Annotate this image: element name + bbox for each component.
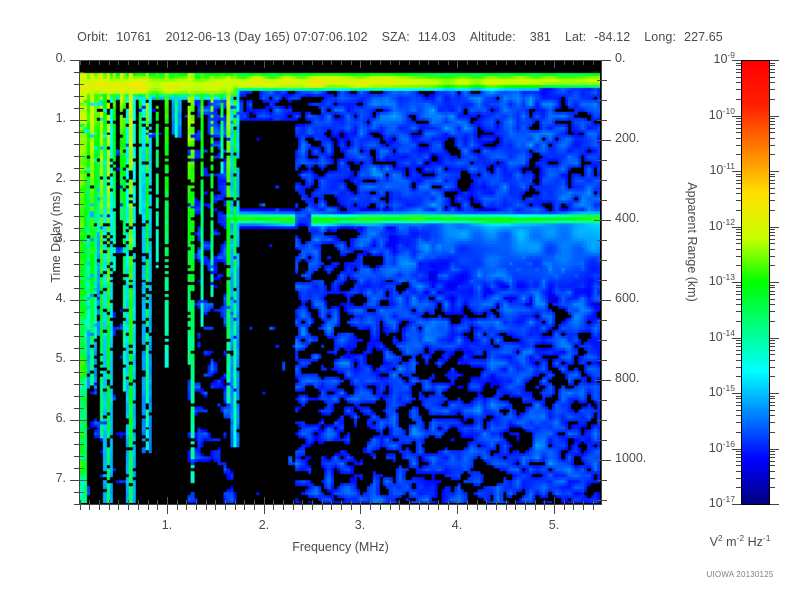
unit-m: m (723, 535, 737, 549)
x-tick-minor (486, 505, 487, 510)
x-tick-minor (583, 505, 584, 510)
y-tick-minor-right (602, 80, 607, 81)
x-tick-inner (593, 500, 594, 504)
colorbar-tick-minor-right (770, 304, 775, 305)
colorbar-tick-minor-right (770, 471, 775, 472)
colorbar-tick-minor-right (770, 176, 775, 177)
x-tick-minor (312, 505, 313, 510)
y-tick-inner (80, 300, 87, 301)
y-tick-inner (80, 360, 87, 361)
colorbar-tick-minor (736, 410, 741, 411)
x-tick-top (80, 61, 81, 65)
colorbar-tick-minor (736, 99, 741, 100)
x-tick-inner (89, 500, 90, 504)
colorbar-tick-minor (736, 415, 741, 416)
x-tick-top (496, 61, 497, 65)
colorbar-tick-minor-right (770, 180, 775, 181)
y-tick-minor (74, 204, 79, 205)
x-tick-inner (573, 500, 574, 504)
x-tick-top (428, 61, 429, 65)
y-tick-minor (74, 192, 79, 193)
y-tick-inner (80, 240, 87, 241)
unit-hz: Hz (744, 535, 763, 549)
y-tick-inner (80, 396, 84, 397)
x-tick-minor (157, 505, 158, 510)
colorbar-tick-minor (736, 299, 741, 300)
colorbar-tick-minor (736, 118, 741, 119)
x-tick-inner (186, 500, 187, 504)
y-tick-minor-right (602, 280, 607, 281)
colorbar-tick-minor-right (770, 487, 775, 488)
header-metadata: Orbit: 10761 2012-06-13 (Day 165) 07:07:… (0, 30, 800, 44)
y-axis-left-line (79, 60, 80, 505)
y-tick-label-right: 400. (615, 211, 639, 225)
x-tick-minor (118, 505, 119, 510)
y-tick-inner (80, 480, 87, 481)
x-tick-inner (177, 500, 178, 504)
colorbar-tick-minor-right (770, 367, 775, 368)
colorbar-tick-minor-right (770, 200, 775, 201)
x-tick-top (515, 61, 516, 65)
y-tick-major-right (602, 60, 611, 61)
x-tick-minor (351, 505, 352, 510)
colorbar-tick-minor-right (770, 154, 775, 155)
colorbar-tick-minor (736, 193, 741, 194)
y-tick-inner (80, 132, 84, 133)
x-tick-label: 1. (153, 518, 181, 532)
colorbar-tick-minor (736, 188, 741, 189)
colorbar-tick-minor (736, 304, 741, 305)
colorbar-tick-minor (736, 256, 741, 257)
colorbar-tick-minor-right (770, 193, 775, 194)
y-tick-label-left: 6. (0, 411, 66, 425)
colorbar-tick-minor-right (770, 239, 775, 240)
colorbar-tick-label: 10-16 (680, 439, 735, 455)
y-tick-inner (80, 312, 84, 313)
y-tick-major (70, 180, 79, 181)
x-tick-top (244, 61, 245, 65)
observation-datetime: 2012-06-13 (Day 165) 07:07:06.102 (166, 30, 368, 44)
x-tick-label: 3. (346, 518, 374, 532)
colorbar-tick-label: 10-14 (680, 328, 735, 344)
x-tick-top (312, 61, 313, 65)
colorbar-tick-minor (736, 451, 741, 452)
x-tick-minor (293, 505, 294, 510)
colorbar-tick-minor-right (770, 89, 775, 90)
x-tick-inner (419, 500, 420, 504)
colorbar-tick-minor (736, 243, 741, 244)
x-tick-inner (293, 500, 294, 504)
y-tick-inner-right (597, 420, 601, 421)
x-tick-top (235, 61, 236, 65)
x-tick-inner (157, 500, 158, 504)
x-tick-minor (244, 505, 245, 510)
x-tick-minor (390, 505, 391, 510)
x-tick-top (564, 61, 565, 65)
x-tick-top (457, 61, 458, 68)
y-tick-inner (80, 456, 84, 457)
x-tick-inner (438, 500, 439, 504)
x-tick-minor (467, 505, 468, 510)
x-tick-top (264, 61, 265, 68)
x-tick-top (535, 61, 536, 65)
x-tick-minor (448, 505, 449, 510)
x-tick-top (186, 61, 187, 65)
x-tick-inner (506, 500, 507, 504)
y-tick-inner (80, 84, 84, 85)
y-tick-inner (80, 216, 84, 217)
x-tick-inner (544, 500, 545, 504)
x-tick-top (409, 61, 410, 65)
colorbar-tick-minor (736, 174, 741, 175)
x-tick-minor (109, 505, 110, 510)
colorbar-tick-minor-right (770, 376, 775, 377)
x-tick-inner (264, 497, 265, 504)
y-tick-minor (74, 372, 79, 373)
colorbar-tick-minor (736, 287, 741, 288)
x-tick-inner (554, 497, 555, 504)
x-tick-minor (128, 505, 129, 510)
y-tick-inner (80, 324, 84, 325)
orbit-value: 10761 (116, 30, 151, 44)
x-tick-inner (477, 500, 478, 504)
y-tick-label-left: 5. (0, 351, 66, 365)
y-tick-inner (80, 120, 87, 121)
x-tick-minor (225, 505, 226, 510)
y-tick-minor-right (602, 500, 607, 501)
x-tick-minor (283, 505, 284, 510)
y-tick-inner-right (597, 440, 601, 441)
y-tick-inner (80, 492, 84, 493)
x-tick-minor (535, 505, 536, 510)
x-tick-top (215, 61, 216, 65)
y-tick-inner (80, 144, 84, 145)
y-tick-inner (80, 372, 84, 373)
colorbar-tick-minor-right (770, 405, 775, 406)
colorbar-tick-minor-right (770, 65, 775, 66)
x-tick-top (506, 61, 507, 65)
y-tick-minor (74, 132, 79, 133)
x-tick-top (399, 61, 400, 65)
x-tick-minor (428, 505, 429, 510)
colorbar-tick-minor-right (770, 138, 775, 139)
y-tick-inner-right (597, 120, 601, 121)
colorbar-tick-minor-right (770, 457, 775, 458)
y-tick-minor (74, 468, 79, 469)
colorbar-tick-minor (736, 471, 741, 472)
colorbar-tick-minor-right (770, 145, 775, 146)
y-tick-inner-right (594, 460, 601, 461)
x-tick-inner (273, 500, 274, 504)
colorbar-tick-minor-right (770, 121, 775, 122)
x-tick-minor (419, 505, 420, 510)
y-tick-label-right: 600. (615, 291, 639, 305)
footer-credit: UIOWA 20130125 (680, 570, 800, 579)
x-tick-top (331, 61, 332, 65)
colorbar-tick-minor (736, 77, 741, 78)
x-tick-minor (564, 505, 565, 510)
y-tick-label-left: 1. (0, 111, 66, 125)
colorbar-tick-minor-right (770, 396, 775, 397)
y-tick-major (70, 360, 79, 361)
x-tick-inner (351, 500, 352, 504)
x-tick-inner (515, 500, 516, 504)
y-tick-minor-right (602, 260, 607, 261)
colorbar-tick-minor (736, 405, 741, 406)
colorbar-tick-major-right (770, 171, 779, 172)
colorbar-tick-label: 10-12 (680, 217, 735, 233)
y-tick-label-left: 0. (0, 51, 66, 65)
colorbar-tick-minor (736, 89, 741, 90)
colorbar-tick-minor-right (770, 454, 775, 455)
y-tick-inner-right (597, 340, 601, 341)
x-tick-top (254, 61, 255, 65)
x-tick-minor (409, 505, 410, 510)
x-tick-minor (399, 505, 400, 510)
y-tick-minor (74, 144, 79, 145)
colorbar-unit-label: V2 m-2 Hz-1 (680, 533, 800, 549)
x-tick-top (554, 61, 555, 68)
colorbar-tick-minor-right (770, 82, 775, 83)
colorbar-tick-minor-right (770, 188, 775, 189)
ionogram-heatmap (80, 61, 600, 503)
x-tick-top (89, 61, 90, 65)
x-tick-top (273, 61, 274, 65)
x-tick-minor (177, 505, 178, 510)
colorbar-tick-major-right (770, 393, 779, 394)
colorbar-tick-minor-right (770, 343, 775, 344)
y-tick-inner (80, 468, 84, 469)
x-tick-inner (109, 500, 110, 504)
colorbar-tick-minor (736, 183, 741, 184)
x-tick-inner (583, 500, 584, 504)
colorbar-tick-minor (736, 180, 741, 181)
x-tick-label: 4. (443, 518, 471, 532)
colorbar-tick-minor-right (770, 118, 775, 119)
y-tick-minor (74, 216, 79, 217)
colorbar-tick-minor (736, 291, 741, 292)
y-tick-minor (74, 444, 79, 445)
x-tick-top (351, 61, 352, 65)
colorbar-tick-major-right (770, 282, 779, 283)
long-value: 227.65 (684, 30, 723, 44)
y-tick-inner (80, 60, 87, 61)
y-tick-major-right (602, 300, 611, 301)
colorbar-tick-minor (736, 350, 741, 351)
x-tick-inner (167, 497, 168, 504)
altitude-value: 381 (530, 30, 551, 44)
colorbar-tick-minor (736, 346, 741, 347)
x-tick-minor (206, 505, 207, 510)
colorbar-tick-minor-right (770, 410, 775, 411)
colorbar-tick-minor-right (770, 415, 775, 416)
spectrogram-plot-area (79, 60, 601, 504)
x-tick-inner (283, 500, 284, 504)
x-tick-inner (409, 500, 410, 504)
colorbar-tick-minor (736, 478, 741, 479)
x-tick-minor (235, 505, 236, 510)
x-tick-minor (215, 505, 216, 510)
y-tick-minor (74, 312, 79, 313)
long-label: Long: (644, 30, 676, 44)
colorbar-tick-minor (736, 457, 741, 458)
colorbar-tick-minor (736, 340, 741, 341)
colorbar-tick-label: 10-9 (680, 50, 735, 66)
y-tick-minor-right (602, 440, 607, 441)
unit-hz-exp: -1 (763, 533, 771, 543)
altitude-label: Altitude: (470, 30, 516, 44)
x-tick-inner (322, 500, 323, 504)
y-tick-inner (80, 348, 84, 349)
x-tick-top (341, 61, 342, 65)
y-tick-major (70, 60, 79, 61)
lat-label: Lat: (565, 30, 586, 44)
x-tick-top (419, 61, 420, 65)
x-tick-top (167, 61, 168, 68)
y-tick-inner (80, 336, 84, 337)
x-tick-minor (138, 505, 139, 510)
x-tick-top (138, 61, 139, 65)
colorbar-tick-minor (736, 229, 741, 230)
colorbar-tick-minor (736, 235, 741, 236)
y-tick-minor-right (602, 100, 607, 101)
x-tick-minor (593, 505, 594, 510)
colorbar-tick-minor-right (770, 69, 775, 70)
x-tick-inner (390, 500, 391, 504)
y-tick-inner (80, 204, 84, 205)
y-tick-inner-right (597, 480, 601, 481)
unit-v: V (710, 535, 718, 549)
y-tick-minor-right (602, 340, 607, 341)
x-tick-minor (573, 505, 574, 510)
x-tick-major (264, 505, 265, 514)
x-tick-label: 2. (250, 518, 278, 532)
x-tick-inner (496, 500, 497, 504)
x-tick-minor (380, 505, 381, 510)
y-tick-minor (74, 324, 79, 325)
colorbar-tick-major-right (770, 227, 779, 228)
y-tick-inner-right (597, 200, 601, 201)
x-tick-top (177, 61, 178, 65)
x-tick-top (196, 61, 197, 65)
colorbar-tick-minor-right (770, 354, 775, 355)
colorbar-tick-minor-right (770, 210, 775, 211)
x-tick-inner (360, 497, 361, 504)
colorbar-tick-minor (736, 285, 741, 286)
y-tick-inner (80, 288, 84, 289)
colorbar-tick-minor (736, 124, 741, 125)
y-tick-label-left: 7. (0, 471, 66, 485)
x-tick-inner (302, 500, 303, 504)
lat-value: -84.12 (594, 30, 630, 44)
y-tick-minor (74, 336, 79, 337)
y-tick-inner-right (597, 360, 601, 361)
colorbar-tick-minor-right (770, 124, 775, 125)
x-tick-minor (186, 505, 187, 510)
x-tick-minor (80, 505, 81, 510)
x-tick-top (438, 61, 439, 65)
x-tick-top (544, 61, 545, 65)
x-tick-minor (544, 505, 545, 510)
x-tick-inner (215, 500, 216, 504)
y-axis-left-title: Time Delay (ms) (49, 157, 63, 317)
y-tick-inner (80, 408, 84, 409)
colorbar-tick-minor (736, 154, 741, 155)
x-tick-minor (525, 505, 526, 510)
x-tick-top (573, 61, 574, 65)
colorbar-tick-minor (736, 65, 741, 66)
y-tick-minor (74, 504, 79, 505)
x-tick-minor (254, 505, 255, 510)
y-tick-minor (74, 348, 79, 349)
y-tick-minor (74, 168, 79, 169)
x-tick-inner (80, 500, 81, 504)
y-tick-label-right: 200. (615, 131, 639, 145)
x-tick-top (128, 61, 129, 65)
y-tick-inner-right (597, 80, 601, 81)
y-tick-label-right: 0. (615, 51, 625, 65)
y-tick-minor (74, 396, 79, 397)
y-tick-inner (80, 384, 84, 385)
x-tick-minor (148, 505, 149, 510)
y-tick-minor (74, 432, 79, 433)
colorbar-tick-minor-right (770, 235, 775, 236)
y-tick-inner (80, 96, 84, 97)
y-tick-inner (80, 228, 84, 229)
y-tick-major-right (602, 460, 611, 461)
y-tick-inner (80, 252, 84, 253)
x-tick-top (380, 61, 381, 65)
unit-m-exp: -2 (737, 533, 745, 543)
x-tick-inner (254, 500, 255, 504)
x-tick-minor (196, 505, 197, 510)
colorbar-tick-label: 10-17 (680, 494, 735, 510)
y-tick-inner (80, 264, 84, 265)
x-tick-label: 5. (540, 518, 568, 532)
colorbar-tick-minor-right (770, 229, 775, 230)
colorbar-tick-minor-right (770, 465, 775, 466)
x-tick-minor (331, 505, 332, 510)
x-tick-inner (128, 500, 129, 504)
x-tick-major (457, 505, 458, 514)
y-tick-minor (74, 276, 79, 277)
colorbar-tick-minor-right (770, 432, 775, 433)
x-tick-minor (370, 505, 371, 510)
colorbar-tick-minor (736, 121, 741, 122)
y-tick-inner-right (597, 400, 601, 401)
x-tick-minor (322, 505, 323, 510)
x-tick-major (167, 505, 168, 514)
y-tick-minor-right (602, 360, 607, 361)
x-axis-title: Frequency (MHz) (79, 540, 602, 554)
x-tick-top (99, 61, 100, 65)
y-tick-minor-right (602, 480, 607, 481)
y-tick-minor (74, 252, 79, 253)
y-tick-inner (80, 444, 84, 445)
colorbar-tick-minor-right (770, 243, 775, 244)
colorbar-tick-minor-right (770, 256, 775, 257)
y-tick-minor-right (602, 400, 607, 401)
x-tick-minor (438, 505, 439, 510)
x-tick-inner (341, 500, 342, 504)
x-tick-top (118, 61, 119, 65)
x-tick-inner (380, 500, 381, 504)
x-tick-top (322, 61, 323, 65)
colorbar-tick-minor-right (770, 291, 775, 292)
y-tick-inner (80, 156, 84, 157)
y-tick-major (70, 420, 79, 421)
x-tick-inner (244, 500, 245, 504)
